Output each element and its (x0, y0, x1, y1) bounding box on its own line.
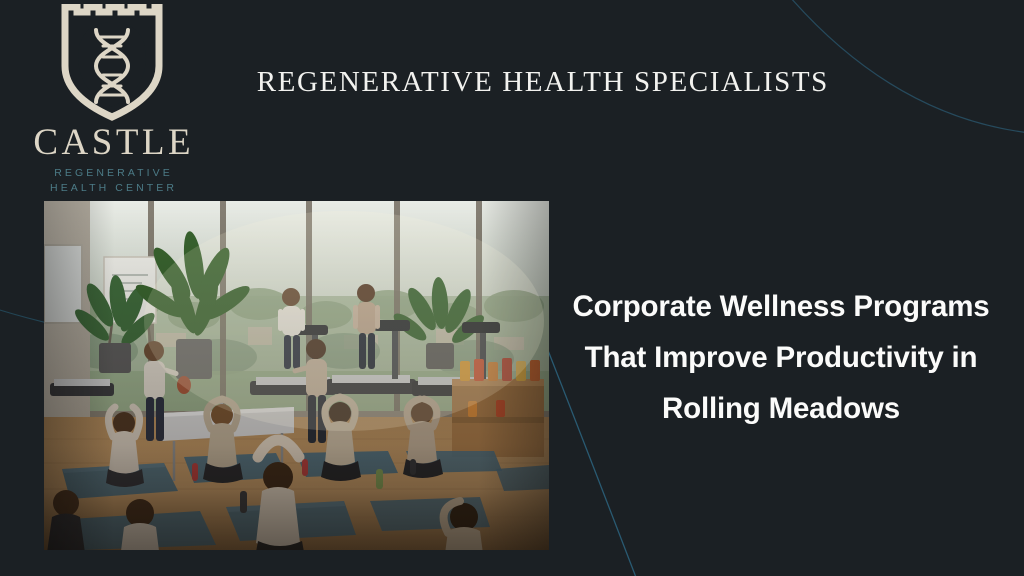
brand-logo[interactable]: CASTLE REGENERATIVE HEALTH CENTER (22, 4, 202, 196)
brand-tagline-line-2: HEALTH CENTER (22, 181, 202, 196)
hero-photo-illustration (44, 201, 549, 550)
brand-wordmark: CASTLE (22, 124, 202, 161)
castle-shield-dna-icon (51, 4, 173, 122)
brand-tagline: REGENERATIVE HEALTH CENTER (22, 166, 202, 196)
headline: Corporate Wellness Programs That Improve… (552, 281, 1010, 434)
headline-line-3: Rolling Meadows (552, 383, 1010, 434)
headline-line-2: That Improve Productivity in (552, 332, 1010, 383)
headline-line-1: Corporate Wellness Programs (552, 281, 1010, 332)
hero-photo (44, 201, 549, 550)
brand-tagline-line-1: REGENERATIVE (22, 166, 202, 181)
slide-canvas: CASTLE REGENERATIVE HEALTH CENTER REGENE… (0, 0, 1024, 576)
banner-title: REGENERATIVE HEALTH SPECIALISTS (212, 66, 872, 99)
